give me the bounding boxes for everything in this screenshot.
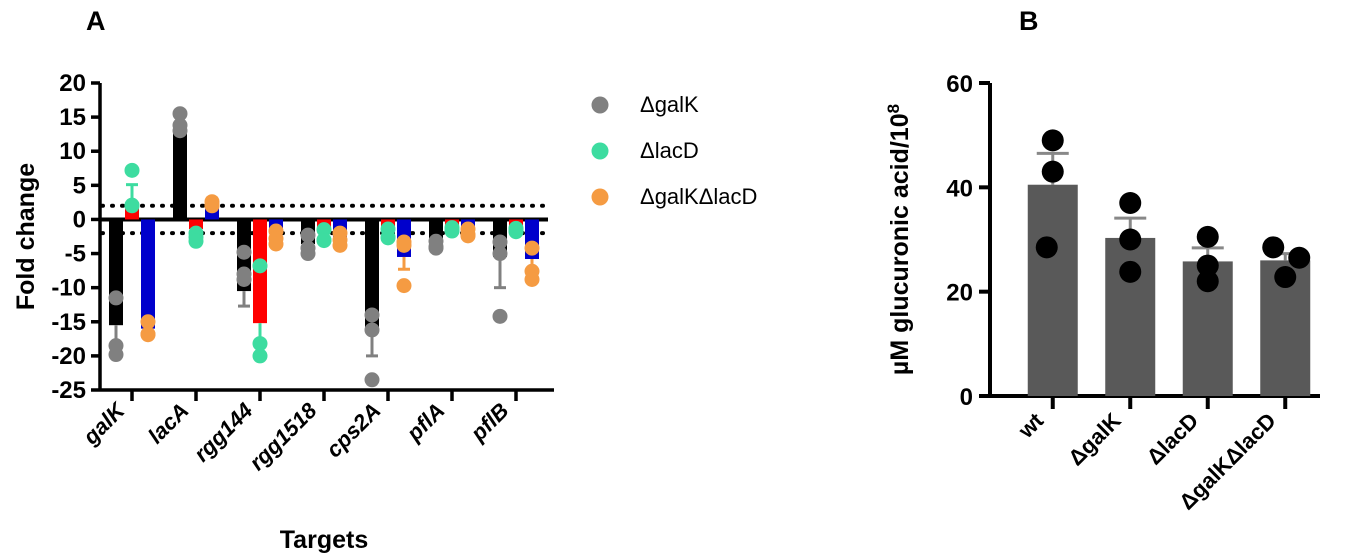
panel-b-x-tick-label: ΔlacD — [1142, 408, 1204, 470]
legend-marker-3 — [592, 189, 609, 206]
svg-text:µM glucuronic acid/108: µM glucuronic acid/108 — [884, 104, 914, 375]
panel-a-data-point — [125, 198, 140, 213]
panel-a-y-tick-label: 10 — [59, 138, 86, 165]
panel-a-y-tick-label: -20 — [51, 343, 86, 370]
panel-b-data-point — [1274, 266, 1296, 288]
panel-a-bar — [109, 219, 123, 325]
panel-b-chart: 0204060µM glucuronic acid/108wtΔgalKΔlac… — [850, 0, 1350, 557]
panel-b-x-tick-label: wt — [1013, 407, 1049, 443]
panel-a-data-point — [365, 372, 380, 387]
panel-a-data-point — [189, 234, 204, 249]
panel-a-x-tick-label: pflB — [465, 398, 514, 447]
panel-a-x-tick-label: cps2A — [321, 398, 385, 462]
panel-a-x-axis-title: Targets — [280, 526, 368, 554]
panel-b-y-tick-label: 40 — [946, 175, 973, 202]
panel-a-data-point — [301, 228, 316, 243]
panel-a-y-tick-label: -10 — [51, 275, 86, 302]
panel-a-data-point — [445, 224, 460, 239]
panel-a-bar — [173, 124, 187, 220]
panel-b-y-tick-label: 20 — [946, 280, 973, 307]
panel-a-data-point — [525, 272, 540, 287]
panel-b-y-axis-title: µM glucuronic acid/108 — [884, 104, 914, 375]
panel-b-bar — [1028, 185, 1078, 396]
panel-a-data-point — [141, 327, 156, 342]
panel-a-data-point — [125, 163, 140, 178]
legend-marker-1 — [592, 97, 609, 114]
panel-b-data-point — [1042, 129, 1064, 151]
panel-a-x-tick-label: pflA — [401, 398, 450, 447]
panel-b-data-point — [1119, 192, 1141, 214]
panel-a-data-point — [253, 258, 268, 273]
panel-b-y-tick-label: 0 — [960, 384, 973, 411]
panel-a-data-point — [381, 230, 396, 245]
panel-a-data-point — [109, 290, 124, 305]
panel-a-svg: 20151050-5-10-15-20-25Fold changegalKlac… — [0, 0, 800, 557]
panel-a-x-tick-label: lacA — [143, 398, 194, 449]
panel-a-data-point — [253, 348, 268, 363]
panel-a-data-point — [333, 238, 348, 253]
panel-a-bar — [141, 219, 155, 328]
panel-a-y-tick-label: 0 — [73, 206, 86, 233]
panel-b-svg: 0204060µM glucuronic acid/108wtΔgalKΔlac… — [850, 0, 1350, 557]
panel-a-y-axis-title: Fold change — [12, 163, 40, 310]
panel-a-data-point — [461, 228, 476, 243]
panel-b-data-point — [1262, 236, 1284, 258]
panel-a-data-point — [397, 238, 412, 253]
panel-a-data-point — [269, 237, 284, 252]
panel-a-x-tick-label: galK — [77, 396, 131, 450]
panel-a-chart: 20151050-5-10-15-20-25Fold changegalKlac… — [0, 0, 800, 557]
panel-a-y-tick-label: -25 — [51, 377, 86, 404]
panel-b-y-tick-label: 60 — [946, 71, 973, 98]
panel-a-legend-galklacd-label: ΔgalKΔlacD — [640, 184, 757, 209]
panel-a-y-tick-label: 20 — [59, 70, 86, 97]
panel-a-y-tick-label: 15 — [59, 104, 86, 131]
panel-a-data-point — [173, 123, 188, 138]
panel-a-y-tick-label: 5 — [73, 172, 86, 199]
panel-b-data-point — [1042, 161, 1064, 183]
panel-a-data-point — [397, 278, 412, 293]
panel-a-data-point — [365, 322, 380, 337]
panel-a-data-point — [365, 307, 380, 322]
panel-a-y-tick-label: -5 — [65, 241, 86, 268]
panel-a-data-point — [301, 246, 316, 261]
panel-a-data-point — [429, 241, 444, 256]
panel-a-x-tick-label: rgg1518 — [244, 397, 322, 475]
panel-a-data-point — [109, 347, 124, 362]
panel-a-data-point — [317, 233, 332, 248]
panel-b-data-point — [1119, 229, 1141, 251]
legend-marker-2 — [592, 143, 609, 160]
panel-a-data-point — [205, 198, 220, 213]
panel-b-data-point — [1036, 236, 1058, 258]
panel-a-data-point — [493, 246, 508, 261]
panel-a-data-point — [237, 272, 252, 287]
panel-b-x-tick-label: ΔgalK — [1063, 408, 1126, 471]
panel-b-data-point — [1119, 261, 1141, 283]
panel-a-data-point — [237, 245, 252, 260]
panel-a-data-point — [509, 224, 524, 239]
panel-b-data-point — [1197, 226, 1219, 248]
panel-a-legend-galk-label: ΔgalK — [640, 92, 699, 117]
panel-a-y-tick-label: -15 — [51, 309, 86, 336]
panel-a-data-point — [493, 309, 508, 324]
panel-b-data-point — [1197, 270, 1219, 292]
panel-a-legend-lacd-label: ΔlacD — [640, 138, 699, 163]
panel-a-data-point — [525, 241, 540, 256]
panel-b-data-point — [1288, 247, 1310, 269]
